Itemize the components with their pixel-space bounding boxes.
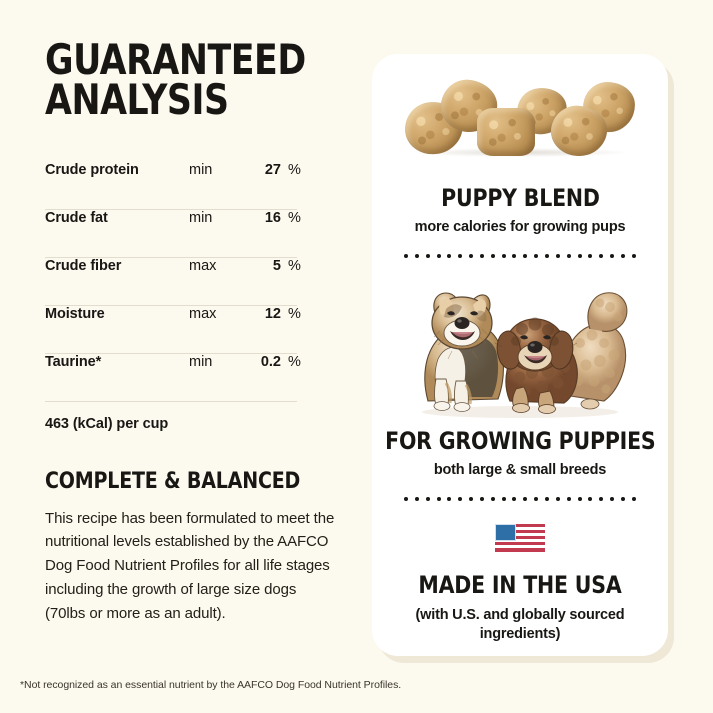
nutrient-name: Crude fiber — [45, 258, 189, 274]
made-in-usa-title: MADE IN THE USA — [418, 571, 621, 599]
nutrient-name: Crude fat — [45, 210, 189, 226]
kibble-nuggets-icon — [405, 78, 635, 158]
table-row: Moisture max 12 % — [45, 306, 297, 354]
page-title: GUARANTEED ANALYSIS — [45, 40, 321, 120]
nutrient-unit: % — [281, 354, 301, 370]
nutrient-qualifier: min — [189, 210, 247, 226]
nutrient-value: 27 — [247, 162, 281, 178]
footnote: *Not recognized as an essential nutrient… — [20, 679, 401, 691]
page-title-line-2: ANALYSIS — [45, 80, 321, 120]
feature-card: PUPPY BLEND more calories for growing pu… — [372, 54, 668, 656]
table-row: Crude fat min 16 % — [45, 210, 297, 258]
two-puppies-illustration-icon — [394, 273, 646, 421]
puppy-blend-subtitle: more calories for growing pups — [415, 218, 626, 237]
growing-puppies-subtitle: both large & small breeds — [434, 461, 606, 480]
puppy-blend-title: PUPPY BLEND — [441, 184, 600, 212]
guaranteed-analysis-panel: GUARANTEED ANALYSIS Crude protein min 27… — [45, 40, 345, 625]
nutrient-qualifier: max — [189, 258, 247, 274]
nutrient-qualifier: min — [189, 354, 247, 370]
complete-balanced-title: COMPLETE & BALANCED — [45, 468, 327, 494]
dotted-divider — [404, 497, 636, 502]
complete-balanced-body: This recipe has been formulated to meet … — [45, 507, 335, 625]
nutrient-name: Taurine* — [45, 354, 189, 370]
made-in-usa-subtitle: (with U.S. and globally sourced ingredie… — [415, 606, 625, 644]
usa-flag-icon — [495, 524, 545, 555]
nutrient-name: Moisture — [45, 306, 189, 322]
nutrient-unit: % — [281, 210, 301, 226]
nutrient-qualifier: max — [189, 306, 247, 322]
kibble-piece — [477, 108, 535, 156]
calorie-content: 463 (kCal) per cup — [45, 402, 297, 446]
nutrient-name: Crude protein — [45, 162, 189, 178]
nutrient-value: 0.2 — [247, 354, 281, 370]
flag-canton — [495, 524, 516, 541]
nutrition-table: Crude protein min 27 % Crude fat min 16 … — [45, 162, 297, 446]
table-row: Taurine* min 0.2 % — [45, 354, 297, 402]
nutrient-value: 12 — [247, 306, 281, 322]
table-row: Crude protein min 27 % — [45, 162, 297, 210]
nutrient-value: 5 — [247, 258, 281, 274]
nutrient-value: 16 — [247, 210, 281, 226]
dotted-divider — [404, 254, 636, 259]
growing-puppies-title: FOR GROWING PUPPIES — [385, 427, 655, 455]
nutrient-qualifier: min — [189, 162, 247, 178]
nutrient-unit: % — [281, 258, 301, 274]
nutrient-unit: % — [281, 306, 301, 322]
table-row: Crude fiber max 5 % — [45, 258, 297, 306]
nutrient-unit: % — [281, 162, 301, 178]
